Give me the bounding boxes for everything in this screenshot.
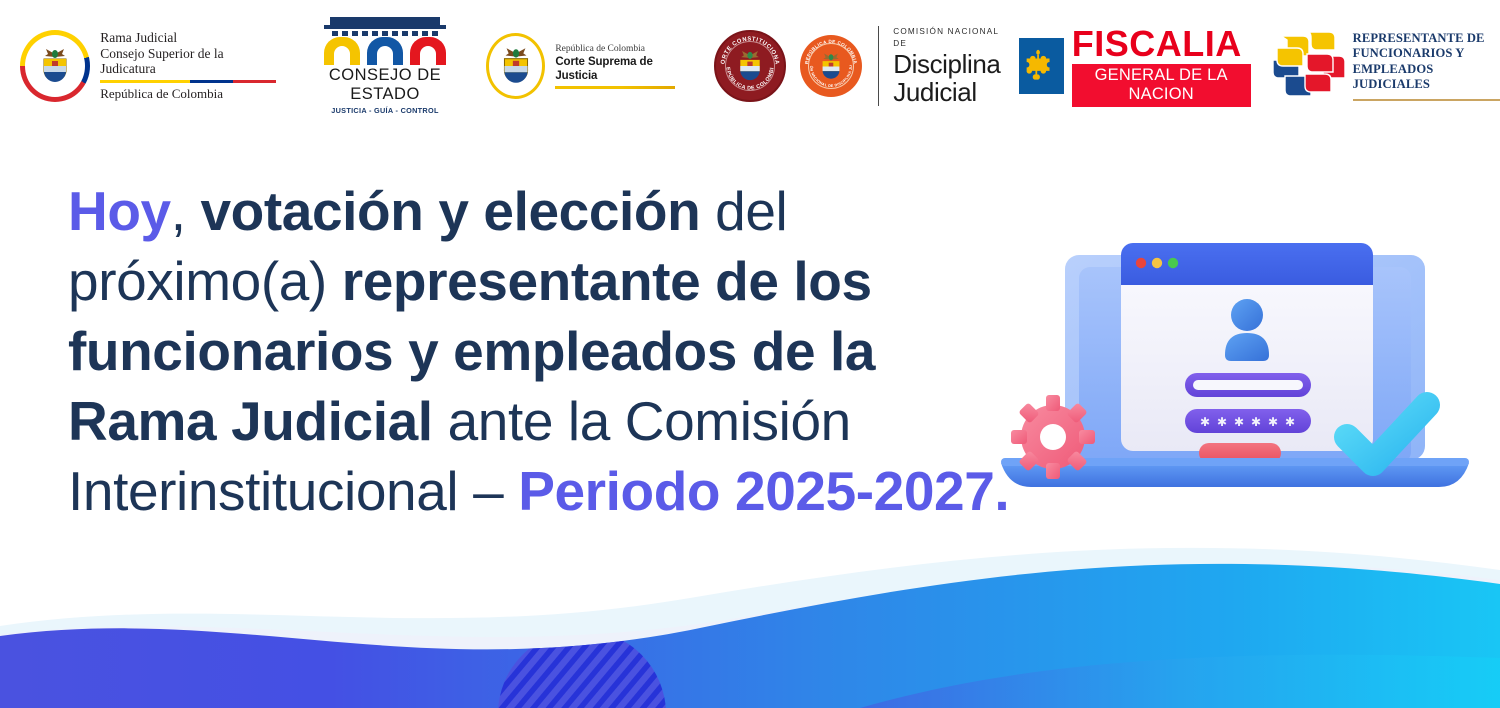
traffic-light-maximize-dot[interactable] xyxy=(1168,258,1178,268)
gold-rule xyxy=(555,86,675,89)
cndj-seal-icon: REPÚBLICA DE COLOMBIA COMISIÓN NACIONAL … xyxy=(800,35,862,97)
fiscalia-title: FISCALIA xyxy=(1072,26,1251,62)
vertical-divider xyxy=(878,26,879,106)
representante-text: REPRESENTANTE DE FUNCIONARIOS Y EMPLEADO… xyxy=(1353,31,1500,102)
logo-line-1: Rama Judicial xyxy=(100,30,278,46)
tricolor-rule xyxy=(100,80,276,83)
bottom-wave-decoration xyxy=(0,518,1500,708)
banner-root: Rama Judicial Consejo Superior de la Jud… xyxy=(0,0,1500,708)
consejo-estado-title: CONSEJO DE ESTADO xyxy=(322,66,448,104)
password-field[interactable]: ✱✱✱ ✱✱✱ xyxy=(1185,409,1311,433)
headline-accent-periodo: Periodo 2025-2027. xyxy=(518,460,1009,522)
laptop-login-3d-illustration: ✱✱✱ ✱✱✱ xyxy=(995,215,1475,505)
logo-corte-suprema-de-justicia: República de Colombia Corte Suprema de J… xyxy=(486,33,682,99)
logo-line-1: REPRESENTANTE DE xyxy=(1353,31,1500,47)
puzzle-piece-icon xyxy=(1019,38,1064,94)
headline: Hoy, votación y elección del próximo(a) … xyxy=(68,176,1028,526)
coat-of-arms-icon xyxy=(38,45,72,87)
logo-corte-constitucional: CORTE CONSTITUCIONAL REPÚBLICA DE COLOMB… xyxy=(714,30,786,102)
headline-seg2: , xyxy=(171,180,201,242)
gear-icon xyxy=(1011,395,1095,479)
username-field[interactable] xyxy=(1185,373,1311,397)
svg-text:✱: ✱ xyxy=(1217,415,1227,429)
logo-comision-nacional-disciplina-judicial: REPÚBLICA DE COLOMBIA COMISIÓN NACIONAL … xyxy=(800,26,1001,107)
svg-text:✱: ✱ xyxy=(1200,415,1210,429)
headline-bold-votacion: votación y elección xyxy=(200,180,700,242)
logo-fiscalia-general-de-la-nacion: FISCALIA GENERAL DE LA NACION xyxy=(1019,26,1251,107)
headline-accent-hoy: Hoy xyxy=(68,180,171,242)
traffic-light-minimize-dot[interactable] xyxy=(1152,258,1162,268)
logo-line-1: República de Colombia xyxy=(555,43,682,55)
svg-text:✱: ✱ xyxy=(1234,415,1244,429)
svg-text:✱: ✱ xyxy=(1251,415,1261,429)
cndj-text: COMISIÓN NACIONAL DE Disciplina Judicial xyxy=(893,26,1000,107)
illustration-svg: ✱✱✱ ✱✱✱ xyxy=(995,215,1475,505)
coat-of-arms-icon xyxy=(735,47,765,85)
coat-of-arms-icon xyxy=(818,50,844,83)
coat-of-arms-icon xyxy=(498,44,534,88)
traffic-light-close-dot[interactable] xyxy=(1136,258,1146,268)
logo-line-2: Consejo Superior de la Judicatura xyxy=(100,46,278,77)
logo-line-3: República de Colombia xyxy=(100,86,278,102)
logo-representante-funcionarios: REPRESENTANTE DE FUNCIONARIOS Y EMPLEADO… xyxy=(1267,26,1500,106)
corte-suprema-seal-icon xyxy=(486,33,545,99)
svg-text:✱: ✱ xyxy=(1268,415,1278,429)
three-arches-icon xyxy=(322,17,448,65)
puzzle-glyph xyxy=(1024,48,1058,84)
hands-glyph xyxy=(1267,26,1345,106)
logo-rama-judicial: Rama Judicial Consejo Superior de la Jud… xyxy=(20,30,278,102)
logo-consejo-de-estado: CONSEJO DE ESTADO JUSTICIA - GUÍA - CONT… xyxy=(322,17,448,115)
fiscalia-text: FISCALIA GENERAL DE LA NACION xyxy=(1072,26,1251,107)
logo-line-3: Judicial xyxy=(893,78,1000,107)
institutional-logo-bar: Rama Judicial Consejo Superior de la Jud… xyxy=(0,18,1500,114)
logo-line-3: EMPLEADOS JUDICIALES xyxy=(1353,62,1500,93)
colombia-coat-of-arms-seal-icon xyxy=(20,30,90,102)
logo-line-1: COMISIÓN NACIONAL DE xyxy=(893,26,1000,50)
corte-constitucional-seal-icon: CORTE CONSTITUCIONAL REPÚBLICA DE COLOMB… xyxy=(714,30,786,102)
logo-line-2: FUNCIONARIOS Y xyxy=(1353,46,1500,62)
corte-suprema-text: República de Colombia Corte Suprema de J… xyxy=(555,43,682,89)
rama-judicial-text: Rama Judicial Consejo Superior de la Jud… xyxy=(100,30,278,101)
fiscalia-band: GENERAL DE LA NACION xyxy=(1072,64,1251,107)
browser-window: ✱✱✱ ✱✱✱ xyxy=(1121,243,1373,463)
logo-line-2: Disciplina xyxy=(893,50,1000,78)
logo-line-2: Corte Suprema de Justicia xyxy=(555,55,682,83)
consejo-estado-subtitle: JUSTICIA - GUÍA - CONTROL xyxy=(322,106,448,115)
gold-rule xyxy=(1353,99,1500,102)
svg-text:✱: ✱ xyxy=(1285,415,1295,429)
four-hands-icon xyxy=(1267,26,1345,106)
laptop-base xyxy=(1001,463,1469,487)
